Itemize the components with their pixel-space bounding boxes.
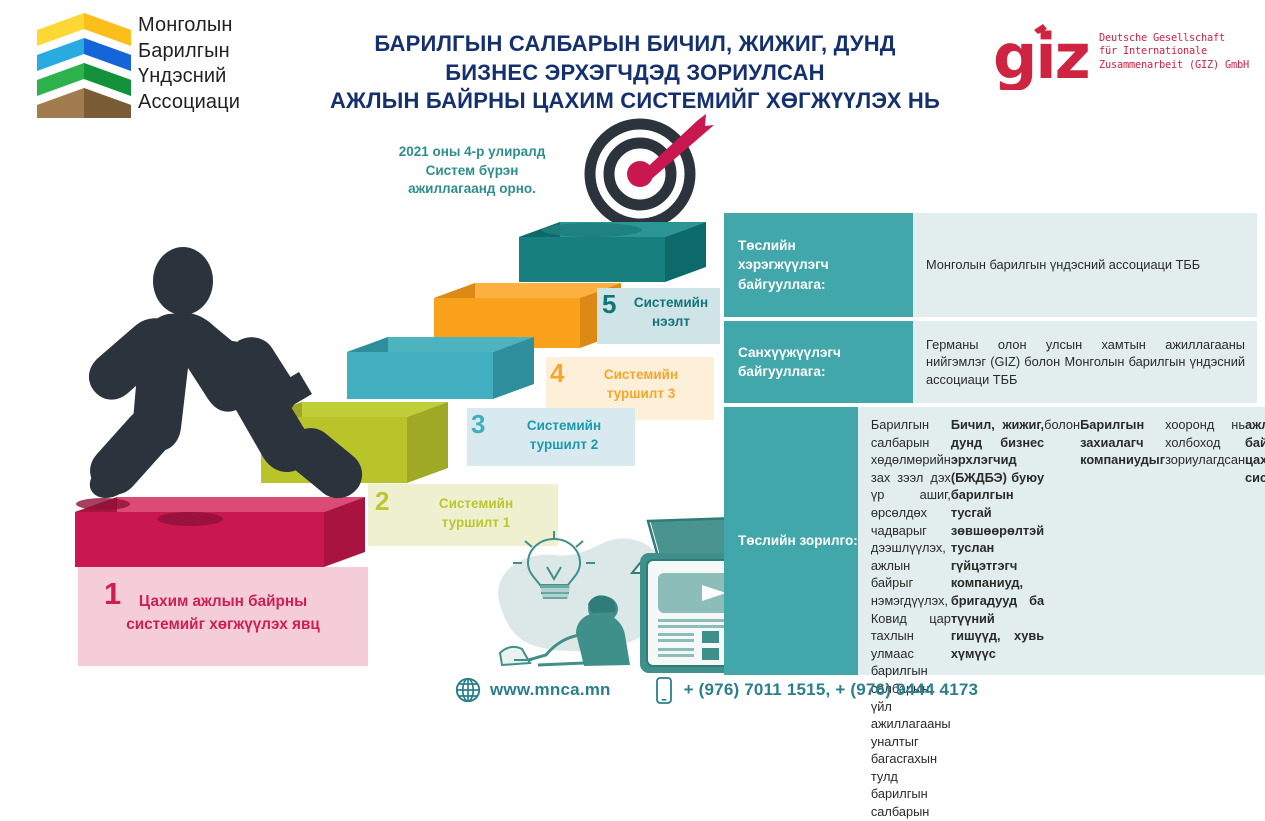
step-1-line-2: системийг хөгжүүлэх явц	[78, 613, 368, 636]
table-value-cell-goal: Барилгын салбарын хөдөлмөрийн зах зээл д…	[858, 407, 1265, 675]
step-label-5: 5 Системийн нээлт	[597, 288, 720, 344]
table-row: Төслийн зорилго: Барилгын салбарын хөдөл…	[724, 407, 1257, 675]
row2-label-line-1: Санхүүжүүлэгч	[738, 343, 841, 363]
step-text-1: Цахим ажлын байрны системийг хөгжүүлэх я…	[78, 590, 368, 636]
step-label-3: 3 Системийн туршилт 2	[467, 408, 635, 466]
step-3-line-1: Системийн	[493, 416, 635, 435]
step-text-4: Системийн туршилт 3	[568, 365, 714, 403]
step-block-2	[261, 402, 448, 483]
giz-logo: giz Deutsche Gesellschaft für Internatio…	[993, 24, 1265, 96]
row1-label-line-3: байгууллага:	[738, 275, 829, 295]
table-row: Санхүүжүүлэгч байгууллага: Германы олон …	[724, 321, 1257, 403]
logo-line-1: Монголын	[138, 13, 258, 39]
note-line-3: ажиллагаанд орно.	[374, 180, 570, 199]
logo-line-3: Үндэсний	[138, 64, 258, 90]
note-line-1: 2021 оны 4-р улиралд	[374, 143, 570, 162]
mnca-logo-mark	[34, 10, 134, 120]
milestone-note: 2021 оны 4-р улиралд Систем бүрэн ажилла…	[374, 143, 570, 199]
table-row: Төслийн хэрэгжүүлэгч байгууллага: Монгол…	[724, 213, 1257, 317]
title-line-2: БИЗНЕС ЭРХЭГЧДЭД ЗОРИУЛСАН	[290, 59, 980, 88]
target-dartboard-icon	[578, 112, 724, 228]
svg-text:giz: giz	[993, 24, 1089, 90]
website-text[interactable]: www.mnca.mn	[490, 680, 611, 700]
step-number-3: 3	[471, 411, 485, 437]
infographic-canvas: Монголын Барилгын Үндэсний Ассоциаци БАР…	[0, 0, 1265, 712]
step-block-5	[519, 222, 706, 282]
step-1-line-1: Цахим ажлын байрны	[78, 590, 368, 613]
table-label-cell: Төслийн зорилго:	[724, 407, 858, 675]
step-number-4: 4	[550, 360, 564, 386]
step-block-4	[434, 283, 621, 348]
giz-sub-line-3: Zusammenarbeit (GIZ) GmbH	[1099, 59, 1265, 72]
step-number-2: 2	[375, 488, 389, 514]
logo-line-2: Барилгын	[138, 39, 258, 65]
step-text-3: Системийн туршилт 2	[493, 416, 635, 454]
phone-numbers-text: + (976) 7011 1515, + (976) 9444 4173	[684, 680, 979, 700]
title-line-1: БАРИЛГЫН САЛБАРЫН БИЧИЛ, ЖИЖИГ, ДУНД	[290, 30, 980, 59]
footer-contact-bar: www.mnca.mn + (976) 7011 1515, + (976) 9…	[455, 672, 1095, 708]
step-3-line-2: туршилт 2	[493, 435, 635, 454]
step-5-line-2: нээлт	[622, 312, 720, 331]
page-title: БАРИЛГЫН САЛБАРЫН БИЧИЛ, ЖИЖИГ, ДУНД БИЗ…	[290, 30, 980, 116]
giz-wordmark-icon: giz	[993, 24, 1091, 90]
table-value-cell: Монголын барилгын үндэсний ассоциаци ТББ	[913, 213, 1257, 317]
step-block-1	[75, 497, 365, 567]
runner-figure-icon	[84, 247, 367, 504]
step-4-line-2: туршилт 3	[568, 384, 714, 403]
table-label-cell: Санхүүжүүлэгч байгууллага:	[724, 321, 913, 403]
step-block-3	[347, 337, 534, 399]
table-value-cell: Германы олон улсын хамтын ажиллагааны ни…	[913, 321, 1257, 403]
step-label-1: 1 Цахим ажлын байрны системийг хөгжүүлэх…	[78, 567, 368, 666]
row3-label-line-1: Төслийн зорилго:	[738, 531, 858, 551]
giz-sub-line-1: Deutsche Gesellschaft	[1099, 32, 1265, 45]
row2-label-line-2: байгууллага:	[738, 362, 841, 382]
giz-subtitle: Deutsche Gesellschaft für Internationale…	[1099, 32, 1265, 72]
mnca-logo-text: Монголын Барилгын Үндэсний Ассоциаци	[138, 13, 258, 115]
giz-sub-line-2: für Internationale	[1099, 45, 1265, 58]
row1-label-line-2: хэрэгжүүлэгч	[738, 255, 829, 275]
mobile-phone-icon	[656, 677, 672, 704]
globe-icon	[455, 677, 481, 703]
row1-label-line-1: Төслийн	[738, 236, 829, 256]
step-5-line-1: Системийн	[622, 293, 720, 312]
logo-line-4: Ассоциаци	[138, 90, 258, 116]
step-number-5: 5	[602, 291, 616, 317]
project-info-table: Төслийн хэрэгжүүлэгч байгууллага: Монгол…	[724, 213, 1257, 679]
note-line-2: Систем бүрэн	[374, 162, 570, 181]
step-text-5: Системийн нээлт	[622, 293, 720, 331]
table-label-cell: Төслийн хэрэгжүүлэгч байгууллага:	[724, 213, 913, 317]
step-4-line-1: Системийн	[568, 365, 714, 384]
